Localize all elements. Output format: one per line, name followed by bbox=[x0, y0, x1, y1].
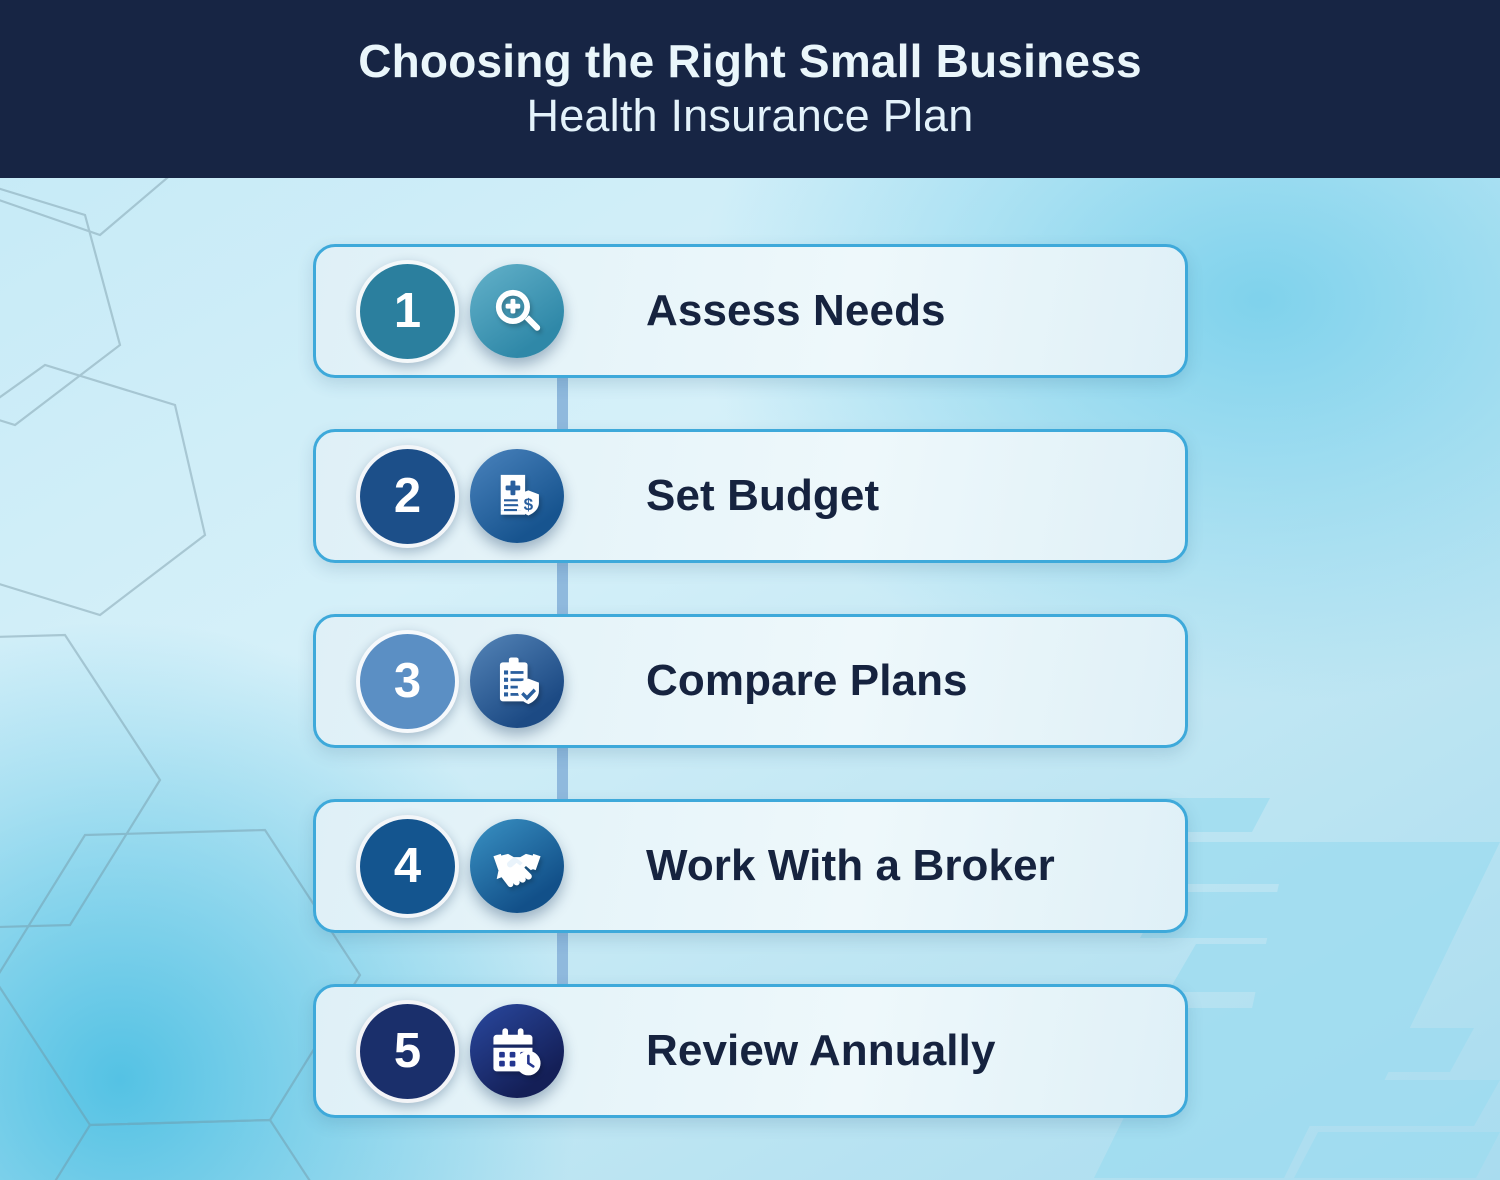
step-icon-circle-4 bbox=[470, 819, 564, 913]
step-number-5: 5 bbox=[394, 1027, 421, 1076]
step-card-1[interactable]: 1 Assess Needs bbox=[313, 244, 1188, 378]
step-label-5: Review Annually bbox=[646, 1026, 996, 1076]
handshake-icon bbox=[491, 840, 543, 892]
step-number-3: 3 bbox=[394, 657, 421, 706]
step-number-4: 4 bbox=[394, 842, 421, 891]
infographic-stage: Choosing the Right Small Business Health… bbox=[0, 0, 1500, 1180]
step-number-1: 1 bbox=[394, 287, 421, 336]
step-icon-circle-5 bbox=[470, 1004, 564, 1098]
step-label-4: Work With a Broker bbox=[646, 841, 1055, 891]
page-title-line2: Health Insurance Plan bbox=[527, 89, 974, 142]
medical-bill-dollar-icon: $ bbox=[491, 470, 543, 522]
svg-text:$: $ bbox=[524, 495, 534, 514]
step-number-badge-2: 2 bbox=[356, 445, 459, 548]
clipboard-shield-check-icon bbox=[491, 655, 543, 707]
step-label-1: Assess Needs bbox=[646, 286, 946, 336]
step-label-3: Compare Plans bbox=[646, 656, 968, 706]
step-number-badge-5: 5 bbox=[356, 1000, 459, 1103]
step-card-2[interactable]: 2 $ bbox=[313, 429, 1188, 563]
step-label-2: Set Budget bbox=[646, 471, 879, 521]
step-number-badge-3: 3 bbox=[356, 630, 459, 733]
step-card-3[interactable]: 3 bbox=[313, 614, 1188, 748]
steps-list: 1 Assess Needs 2 bbox=[313, 244, 1188, 1118]
step-icon-circle-3 bbox=[470, 634, 564, 728]
magnifier-plus-icon bbox=[491, 285, 543, 337]
step-icon-circle-2: $ bbox=[470, 449, 564, 543]
step-card-4[interactable]: 4 Work With a Broker bbox=[313, 799, 1188, 933]
header-banner: Choosing the Right Small Business Health… bbox=[0, 0, 1500, 178]
calendar-clock-icon bbox=[491, 1025, 543, 1077]
step-number-badge-1: 1 bbox=[356, 260, 459, 363]
step-icon-circle-1 bbox=[470, 264, 564, 358]
step-number-2: 2 bbox=[394, 472, 421, 521]
step-number-badge-4: 4 bbox=[356, 815, 459, 918]
page-title-line1: Choosing the Right Small Business bbox=[358, 36, 1142, 88]
step-card-5[interactable]: 5 bbox=[313, 984, 1188, 1118]
